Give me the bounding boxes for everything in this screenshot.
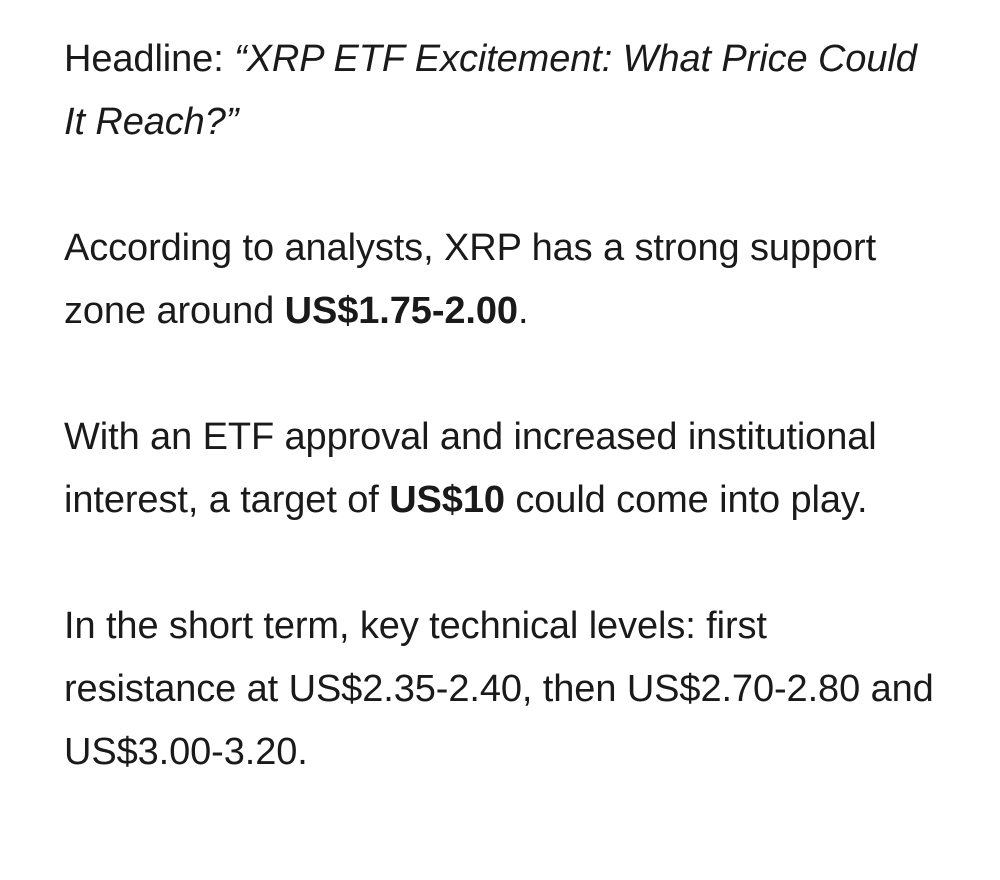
headline-label: Headline: <box>64 38 234 80</box>
paragraph-support-zone: According to analysts, XRP has a strong … <box>64 217 940 343</box>
support-zone-trail-text: . <box>518 290 528 332</box>
article-body: Headline: “XRP ETF Excitement: What Pric… <box>0 0 1000 880</box>
paragraph-etf-target: With an ETF approval and increased insti… <box>64 406 940 532</box>
paragraph-headline: Headline: “XRP ETF Excitement: What Pric… <box>64 28 940 154</box>
etf-target-price: US$10 <box>389 479 505 521</box>
paragraph-technical-levels: In the short term, key technical levels:… <box>64 595 940 784</box>
technical-levels-text: In the short term, key technical levels:… <box>64 605 934 773</box>
support-zone-price-range: US$1.75-2.00 <box>285 290 518 332</box>
etf-target-trail-text: could come into play. <box>505 479 868 521</box>
